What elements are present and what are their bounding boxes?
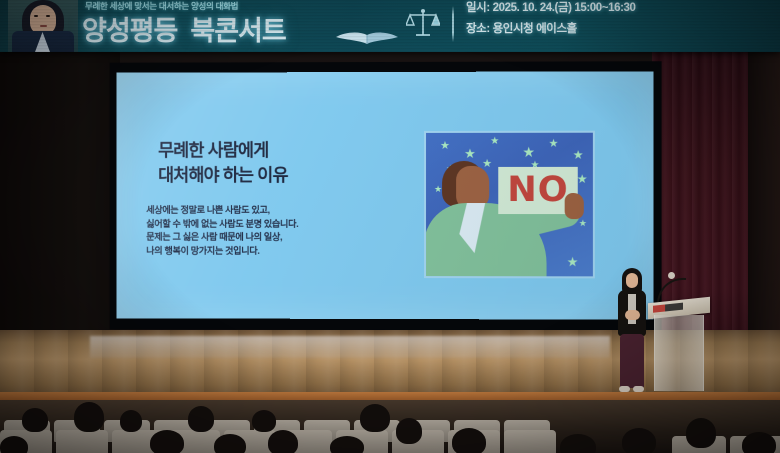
- audience-head: [74, 402, 104, 432]
- slide-heading: 무례한 사람에게대처해야 하는 이유: [158, 138, 288, 188]
- star-icon: ★: [573, 149, 584, 161]
- star-icon: ★: [490, 137, 499, 147]
- no-sign-text: NO: [507, 173, 568, 208]
- audience-head: [268, 430, 298, 453]
- audience-head: [22, 408, 48, 432]
- audience-head: [686, 418, 716, 448]
- banner-place-line: 장소: 용인시청 에이스홀: [466, 20, 577, 36]
- slide-body-line: 세상에는 정말로 나쁜 사람도 있고,: [146, 204, 298, 218]
- banner-date-line: 일시: 2025. 10. 24.(금) 15:00~16:30: [466, 0, 636, 15]
- audience-seat: [56, 430, 108, 453]
- open-book-icon: [334, 30, 400, 48]
- presenter-speaker: [612, 268, 652, 394]
- slide-heading-line2: 대처해야 하는 이유: [158, 165, 288, 185]
- star-icon: ★: [434, 185, 442, 194]
- audience-head: [396, 418, 422, 444]
- lectern-body: [654, 315, 704, 391]
- auditorium-photo: 무례한 세상에 맞서는 대서하는 양성의 대화법 양성평등북콘서트 일시: 20…: [0, 0, 780, 453]
- projection-screen: 무례한 사람에게대처해야 하는 이유 세상에는 정말로 나쁜 사람도 있고, 싫…: [117, 71, 654, 319]
- event-banner: 무례한 세상에 맞서는 대서하는 양성의 대화법 양성평등북콘서트 일시: 20…: [0, 0, 780, 52]
- slide-body-line: 문제는 그 싫은 사람 때문에 나의 일상,: [146, 231, 298, 245]
- lectern: [648, 300, 710, 396]
- audience-head: [622, 428, 656, 453]
- banner-title-part1: 양성평등: [82, 16, 177, 46]
- star-icon: ★: [440, 141, 450, 152]
- audience-head: [120, 410, 142, 432]
- audience-head: [214, 434, 246, 453]
- illustration-woman-hand: [565, 193, 584, 219]
- slide-body-line: 싫어할 수 밖에 없는 사람도 분명 있습니다.: [146, 217, 298, 231]
- audience-head: [252, 410, 276, 432]
- banner-speaker-portrait: [8, 0, 78, 52]
- slide-body-text: 세상에는 정말로 나쁜 사람도 있고, 싫어할 수 밖에 없는 사람도 분명 있…: [146, 204, 298, 258]
- stage-floor-reflection: [90, 336, 610, 358]
- audience-head: [452, 428, 486, 453]
- audience-head: [330, 436, 364, 453]
- audience-head: [560, 434, 596, 453]
- audience-head: [150, 430, 184, 453]
- audience-head: [0, 436, 28, 453]
- slide-heading-line1: 무례한 사람에게: [158, 140, 268, 160]
- banner-divider: [452, 6, 454, 42]
- banner-title: 양성평등북콘서트: [82, 9, 286, 48]
- audience-head: [188, 406, 214, 432]
- star-icon: ★: [482, 159, 492, 170]
- star-icon: ★: [464, 147, 476, 160]
- microphone-head: [668, 272, 675, 279]
- audience-seat: [504, 430, 556, 453]
- slide-illustration: ★★★★★★★★★★★★★ NO: [424, 131, 595, 279]
- audience-head: [360, 404, 390, 432]
- star-icon: ★: [579, 219, 587, 228]
- lectern-label: [653, 303, 683, 313]
- star-icon: ★: [522, 145, 535, 159]
- star-icon: ★: [567, 255, 579, 268]
- banner-title-part2: 북콘서트: [190, 16, 285, 46]
- scales-of-justice-icon: [406, 6, 440, 40]
- stage-curtain-left: [0, 45, 120, 345]
- audience-head: [742, 432, 776, 453]
- star-icon: ★: [577, 173, 588, 185]
- seated-audience: [0, 400, 780, 453]
- star-icon: ★: [549, 139, 559, 150]
- slide-body-line: 나의 행복이 망가지는 것입니다.: [146, 244, 298, 258]
- gooseneck-microphone: [656, 276, 690, 302]
